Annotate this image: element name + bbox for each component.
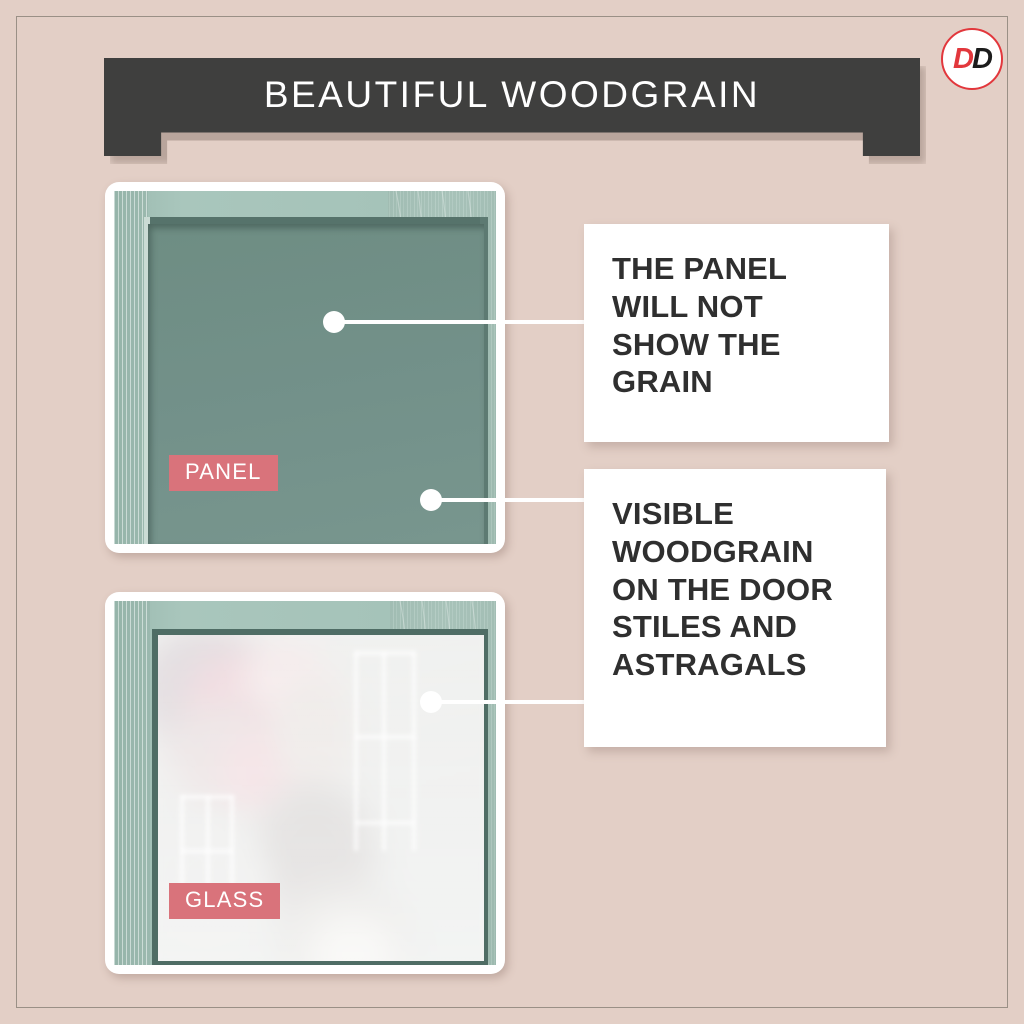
glass-photo-card: GLASS	[105, 592, 505, 974]
leader-dot-grain-bottom	[420, 691, 442, 713]
header-ribbon: BEAUTIFUL WOODGRAIN	[104, 58, 920, 133]
leader-dot-grain-top	[420, 489, 442, 511]
callout-panel-box: THE PANEL WILL NOT SHOW THE GRAIN	[584, 224, 889, 442]
callout-grain-text: VISIBLE WOODGRAIN ON THE DOOR STILES AND…	[612, 495, 858, 684]
glass-photo: GLASS	[114, 601, 496, 965]
dd-logo[interactable]: DD	[941, 28, 1003, 90]
logo-letter-second: D	[972, 45, 991, 74]
callout-panel-text: THE PANEL WILL NOT SHOW THE GRAIN	[612, 250, 861, 401]
panel-label-chip: PANEL	[169, 455, 278, 491]
callout-grain-box: VISIBLE WOODGRAIN ON THE DOOR STILES AND…	[584, 469, 886, 747]
infographic-canvas: BEAUTIFUL WOODGRAIN DD	[0, 0, 1024, 1024]
leader-line-grain-bottom	[430, 700, 585, 704]
leader-dot-panel	[323, 311, 345, 333]
logo-letter-first: D	[953, 45, 972, 74]
door-edge-ridges	[114, 601, 150, 965]
panel-photo: PANEL	[114, 191, 496, 544]
door-edge-ridges	[114, 191, 148, 544]
leader-line-panel	[333, 320, 585, 324]
glass-label-chip: GLASS	[169, 883, 280, 919]
page-title: BEAUTIFUL WOODGRAIN	[104, 58, 920, 132]
leader-line-grain-top	[430, 498, 585, 502]
